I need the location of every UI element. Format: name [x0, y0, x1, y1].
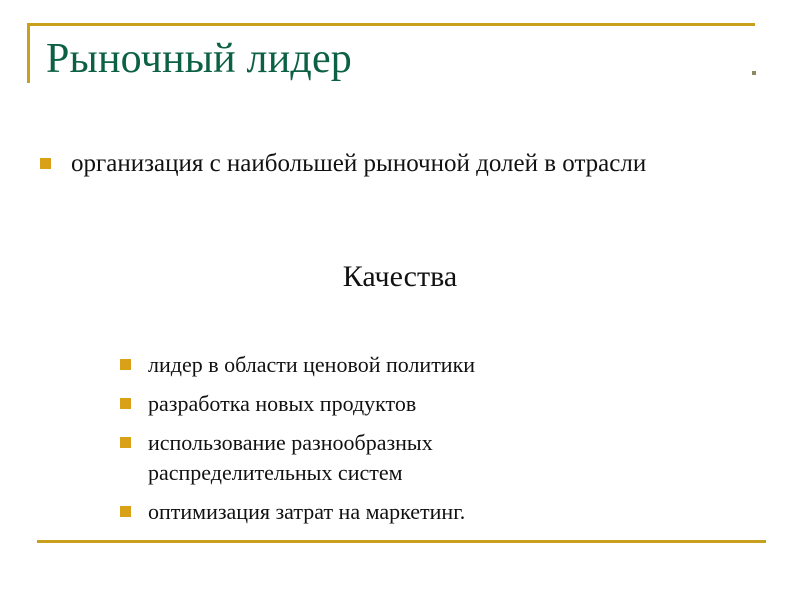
- square-bullet-icon: [120, 506, 131, 517]
- square-bullet-icon: [40, 158, 51, 169]
- qualities-list: лидер в области ценовой политики разрабо…: [120, 350, 720, 536]
- list-item-label: оптимизация затрат на маркетинг.: [148, 497, 465, 527]
- list-item-label: лидер в области ценовой политики: [148, 350, 475, 380]
- primary-bullet-label: организация с наибольшей рыночной долей …: [71, 148, 646, 180]
- decorative-rule-top: [27, 23, 755, 26]
- list-item-label: разработка новых продуктов: [148, 389, 416, 419]
- list-item: оптимизация затрат на маркетинг.: [120, 497, 720, 527]
- list-item: использование разнообразных распределите…: [120, 428, 720, 488]
- decorative-dot-icon: [752, 71, 756, 75]
- decorative-rule-left: [27, 23, 30, 83]
- decorative-rule-bottom: [37, 540, 766, 543]
- section-subheading: Качества: [0, 258, 800, 296]
- square-bullet-icon: [120, 359, 131, 370]
- list-item: лидер в области ценовой политики: [120, 350, 720, 380]
- slide-canvas: Рыночный лидер организация с наибольшей …: [0, 0, 800, 600]
- square-bullet-icon: [120, 398, 131, 409]
- list-item-label: использование разнообразных распределите…: [148, 428, 548, 488]
- list-item: разработка новых продуктов: [120, 389, 720, 419]
- square-bullet-icon: [120, 437, 131, 448]
- slide-title: Рыночный лидер: [46, 34, 352, 84]
- primary-bullet-item: организация с наибольшей рыночной долей …: [40, 148, 760, 180]
